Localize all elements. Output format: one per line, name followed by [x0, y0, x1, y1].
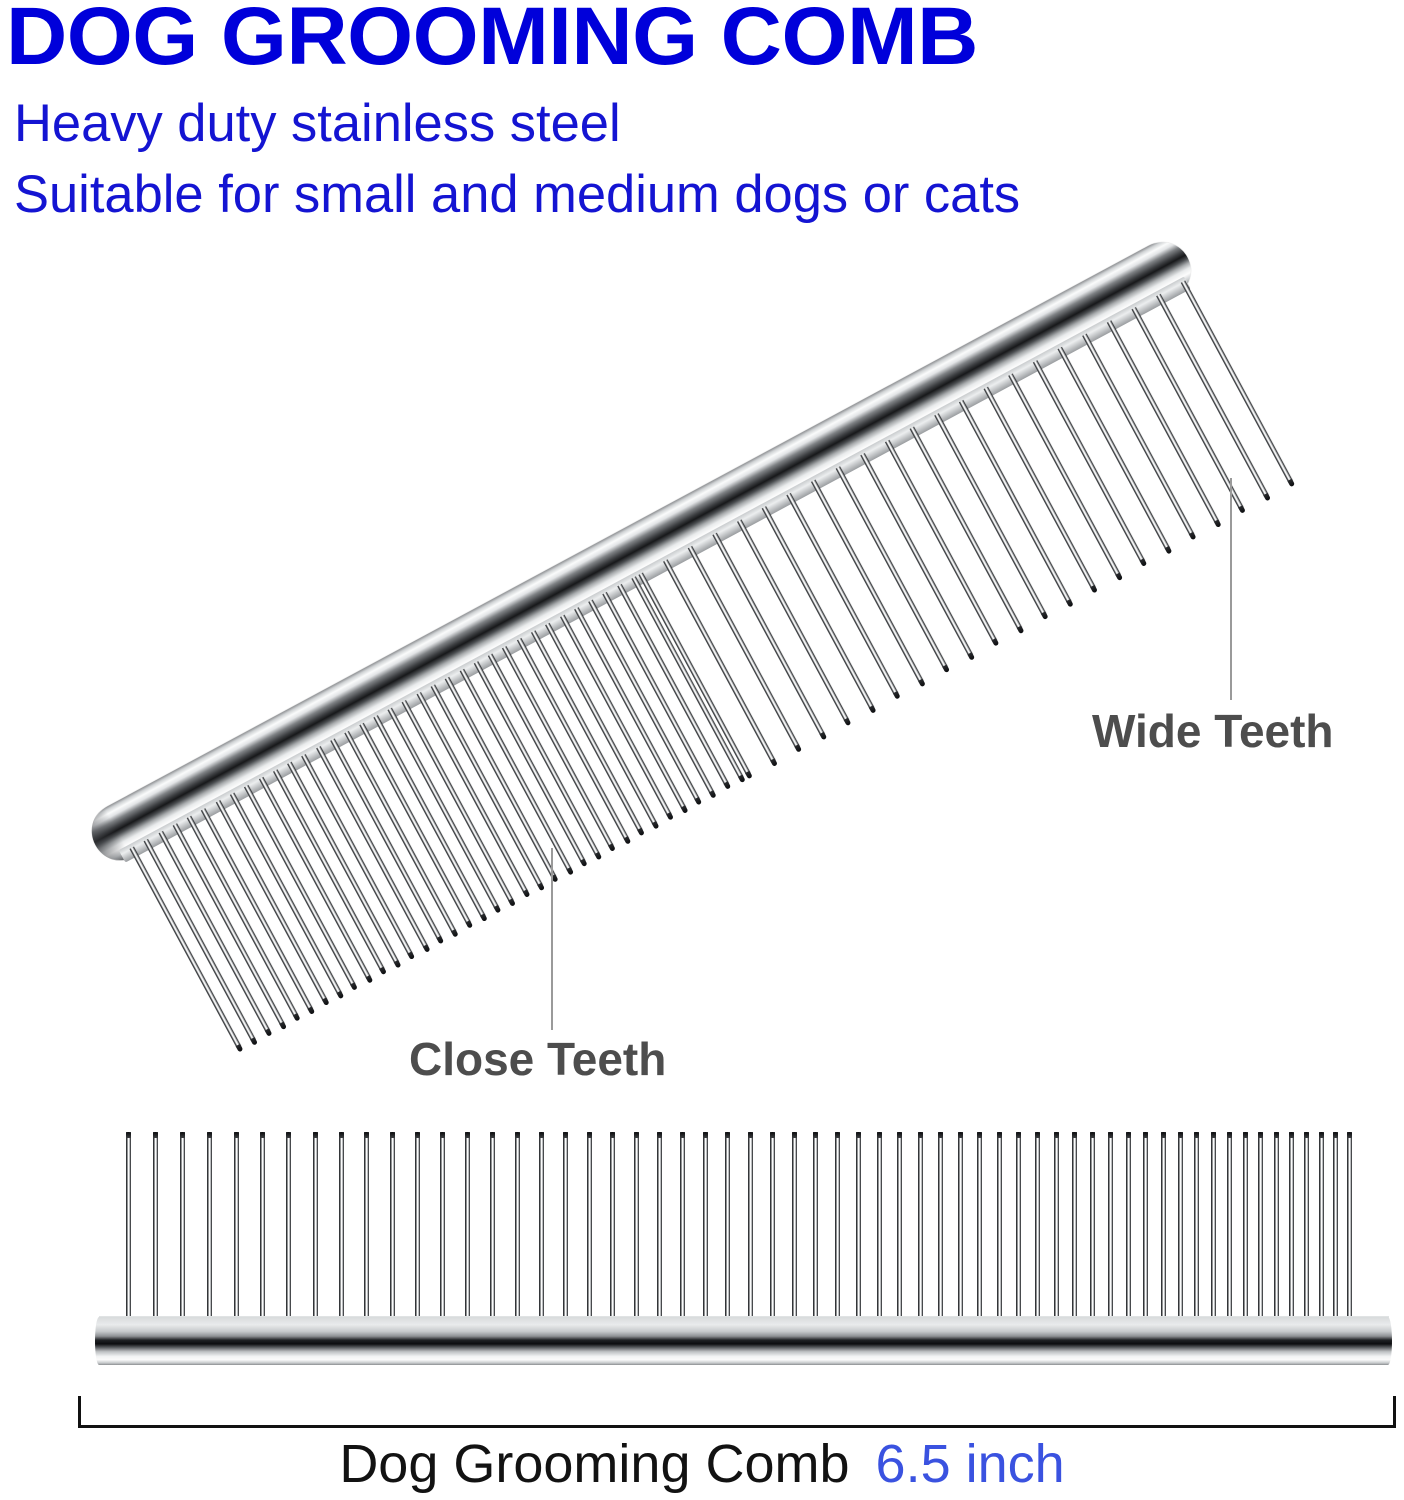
side-comb-tooth: [997, 1132, 1002, 1330]
side-comb-tooth: [1035, 1132, 1040, 1330]
size-caption: Dog Grooming Comb6.5 inch: [0, 1437, 1404, 1491]
side-comb-tooth: [1194, 1132, 1199, 1330]
side-comb-tooth: [938, 1132, 943, 1330]
side-comb-tooth: [515, 1132, 520, 1330]
side-comb-tooth: [725, 1132, 730, 1330]
side-comb-tooth: [1178, 1132, 1183, 1330]
side-comb-tooth: [260, 1132, 265, 1330]
side-comb-tooth: [1054, 1132, 1059, 1330]
bracket-tick-right: [1393, 1396, 1396, 1428]
side-comb-tooth: [1347, 1132, 1352, 1330]
side-comb-tooth: [415, 1132, 420, 1330]
side-comb-tooth: [813, 1132, 818, 1330]
side-comb-tooth: [126, 1132, 131, 1330]
side-comb-tooth: [539, 1132, 544, 1330]
side-comb-tooth: [490, 1132, 495, 1330]
side-comb-tooth: [1211, 1132, 1216, 1330]
side-comb-tooth: [897, 1132, 902, 1330]
side-comb-tooth: [339, 1132, 344, 1330]
side-comb-tooth: [313, 1132, 318, 1330]
side-comb-tooth: [1304, 1132, 1309, 1330]
bracket-span-line: [78, 1425, 1396, 1428]
side-comb-tooth: [1072, 1132, 1077, 1330]
side-comb-tooth: [610, 1132, 615, 1330]
size-caption-product-name: Dog Grooming Comb: [339, 1434, 849, 1494]
side-comb-tooth: [792, 1132, 797, 1330]
side-comb-tooth: [153, 1132, 158, 1330]
side-comb-tooth: [703, 1132, 708, 1330]
side-comb-tooth: [180, 1132, 185, 1330]
side-comb-tooth: [440, 1132, 445, 1330]
bracket-tick-left: [78, 1396, 81, 1428]
side-comb-tooth: [856, 1132, 861, 1330]
side-comb-tooth: [918, 1132, 923, 1330]
side-comb-tooth: [465, 1132, 470, 1330]
side-comb-tooth: [877, 1132, 882, 1330]
side-comb-tooth: [1258, 1132, 1263, 1330]
side-comb-tooth: [770, 1132, 775, 1330]
side-comb-tooth: [657, 1132, 662, 1330]
side-comb-tooth: [634, 1132, 639, 1330]
side-comb-tooth: [390, 1132, 395, 1330]
side-comb-tooth: [1108, 1132, 1113, 1330]
side-comb-tooth: [680, 1132, 685, 1330]
side-comb-tooth: [1243, 1132, 1248, 1330]
side-comb-tooth: [1161, 1132, 1166, 1330]
side-comb-tooth: [1126, 1132, 1131, 1330]
side-comb-tooth: [563, 1132, 568, 1330]
side-comb-tooth: [234, 1132, 239, 1330]
side-comb-handle-bar: [95, 1317, 1392, 1365]
side-comb-tooth: [1227, 1132, 1232, 1330]
side-comb-tooth: [1143, 1132, 1148, 1330]
side-comb-tooth: [1090, 1132, 1095, 1330]
side-comb-tooth: [364, 1132, 369, 1330]
side-comb-tooth: [1333, 1132, 1338, 1330]
dimension-bracket: [78, 1396, 1396, 1428]
side-comb-tooth: [286, 1132, 291, 1330]
side-comb-tooth: [835, 1132, 840, 1330]
side-comb-tooth: [977, 1132, 982, 1330]
side-comb-tooth: [587, 1132, 592, 1330]
product-image-side: [0, 0, 1404, 1500]
side-comb-tooth: [207, 1132, 212, 1330]
side-comb-tooth: [958, 1132, 963, 1330]
side-comb-tooth: [1319, 1132, 1324, 1330]
side-comb-tooth: [1289, 1132, 1294, 1330]
side-comb-tooth: [1016, 1132, 1021, 1330]
side-comb-tooth: [1274, 1132, 1279, 1330]
size-caption-measurement: 6.5 inch: [876, 1434, 1065, 1494]
side-comb-tooth: [748, 1132, 753, 1330]
